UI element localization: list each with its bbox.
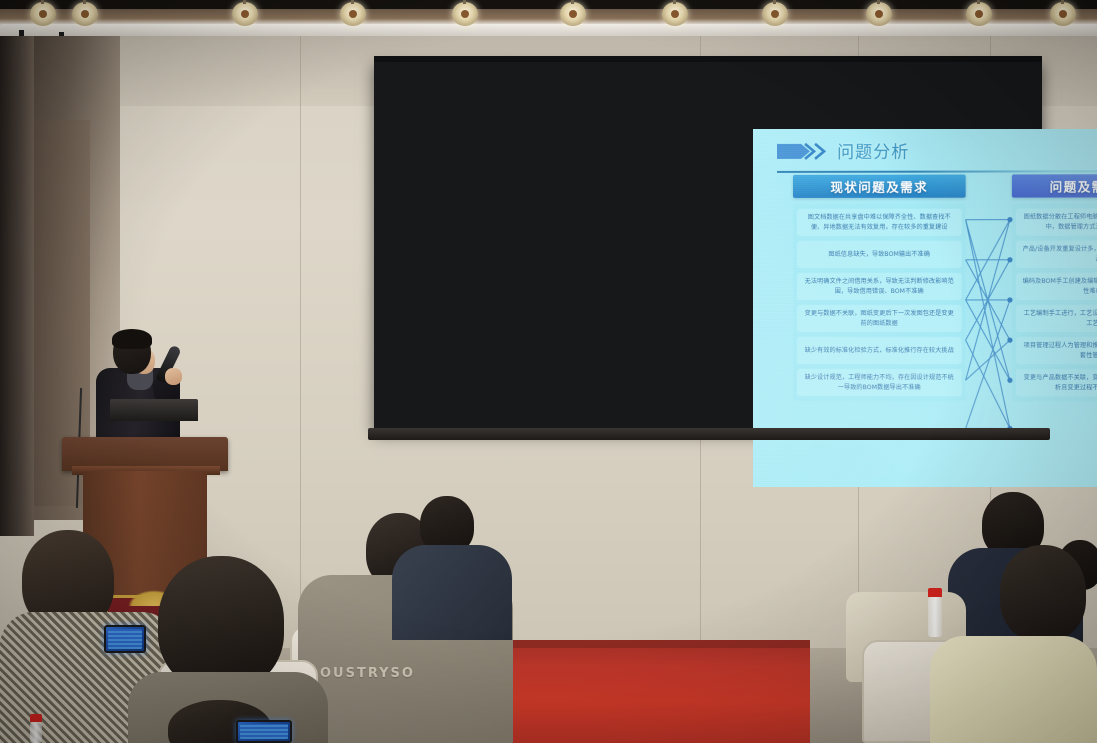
summary-box: 编码及BOM手工创建及编辑，人工操作工作量大且准确性难以保障 (1016, 273, 1097, 300)
column-left-body: 图文档数据在共享盘中难以保障齐全性、数据查找不便、异地数据无法有效复用，存在较多… (793, 204, 966, 402)
column-left-header: 现状问题及需求 (793, 175, 966, 198)
ceiling-lamp-icon (966, 2, 992, 26)
ceiling-lamp-icon (866, 2, 892, 26)
stage-carpet-edge (480, 640, 810, 648)
speaker-hand (165, 368, 182, 385)
ceiling-lamp-icon (662, 2, 688, 26)
ceiling-lamp-icon (72, 2, 98, 26)
issue-box: 图纸信息缺失，导致BOM输出不准确 (797, 241, 962, 268)
audience-phone[interactable] (236, 720, 292, 743)
stage-red-carpet (480, 640, 810, 743)
left-pillar (0, 36, 34, 536)
column-middle-header: 问题及需求总结 (1012, 174, 1097, 197)
issue-box: 无法明确文件之间借用关系，导致无法判断修改影响范围，导致借用错误、BOM不准确 (797, 273, 962, 300)
slide-header: 问题分析 TG 通格创普 (753, 129, 1097, 175)
speaker-hair (112, 329, 152, 349)
podium-laptop (110, 399, 198, 421)
screen-mount-bottom (368, 428, 1050, 440)
summary-box: 产品/设备开发重复设计多，标准化体系实际应用比较混乱 (1016, 241, 1097, 268)
column-left: 现状问题及需求 图文档数据在共享盘中难以保障齐全性、数据查找不便、异地数据无法有… (793, 175, 966, 402)
column-middle: 问题及需求总结 图纸数据分散在工程师电脑上，同时归档在共享文件夹中，数据管理方式… (1012, 174, 1097, 401)
projection-screen-frame: 问题分析 TG 通格创普 (374, 62, 1042, 432)
ceiling-lamp-icon (30, 2, 56, 26)
water-bottle (30, 722, 42, 743)
summary-box: 图纸数据分散在工程师电脑上，同时归档在共享文件夹中，数据管理方式混乱，影响数据复… (1016, 208, 1097, 235)
title-arrow-icon (777, 142, 829, 161)
audience-shoulders (930, 636, 1097, 743)
water-bottle-cap (30, 714, 42, 722)
ceiling-dark-strip (0, 0, 1097, 9)
summary-box: 项目管理过程人为管理和推动，项目多但管理混乱，齐套性管理缺失 (1016, 337, 1097, 364)
summary-box: 变更与产品数据不关联，变更过程中缺少有效的影响分析且变更过程不闭环，返工率高 (1016, 369, 1097, 396)
audience-head (1000, 545, 1086, 641)
ceiling-lamp-icon (762, 2, 788, 26)
ceiling-lamp-icon (340, 2, 366, 26)
ceiling-lamp-icon (232, 2, 258, 26)
issue-box: 图文档数据在共享盘中难以保障齐全性、数据查找不便、异地数据无法有效复用，存在较多… (797, 209, 962, 236)
issue-box: 缺少有效的标准化检验方式，标准化推行存在较大挑战 (797, 337, 962, 364)
column-middle-body: 图纸数据分散在工程师电脑上，同时归档在共享文件夹中，数据管理方式混乱，影响数据复… (1012, 203, 1097, 401)
audience-phone[interactable] (104, 625, 146, 653)
slide-title: 问题分析 (837, 138, 909, 163)
audience-shoulders (392, 545, 512, 640)
water-bottle (928, 597, 942, 637)
ceiling-lamp-icon (560, 2, 586, 26)
issue-box: 缺少设计规范，工程师能力不均，存在因设计规范不统一导致的BOM数据导出不准确 (797, 369, 962, 396)
water-bottle-cap (928, 588, 942, 597)
wall-panel-seam (300, 36, 301, 656)
jacket-text: OUSTRYSO (320, 666, 415, 681)
ceiling-lamp-icon (452, 2, 478, 26)
audience-head (158, 556, 284, 690)
conference-photo-scene: 问题分析 TG 通格创普 (0, 0, 1097, 743)
phone-screen (108, 629, 142, 649)
issue-box: 变更与数据不关联，图纸变更后下一次发图包还是变更前的图纸数据 (797, 305, 962, 332)
slide-columns: 现状问题及需求 图文档数据在共享盘中难以保障齐全性、数据查找不便、异地数据无法有… (753, 174, 1097, 487)
header-divider (777, 170, 1097, 173)
phone-screen (240, 724, 288, 739)
summary-box: 工艺编制手工进行，工艺设计滞后，企业未沉淀有效的工艺管理 (1016, 305, 1097, 332)
ceiling-lamp-icon (1050, 2, 1076, 26)
